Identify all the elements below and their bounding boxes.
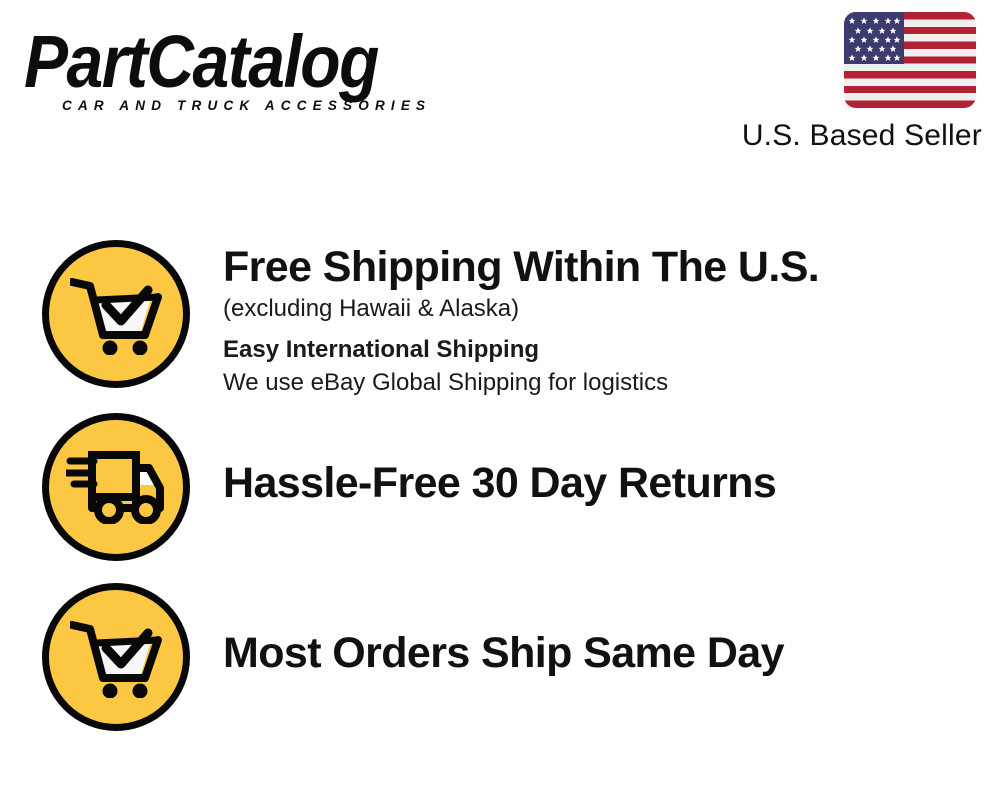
feature-text: Most Orders Ship Same Day xyxy=(223,583,1000,678)
shopping-cart-check-icon xyxy=(42,240,190,388)
flag-stars xyxy=(844,12,976,108)
feature-title: Free Shipping Within The U.S. xyxy=(223,242,1000,292)
feature-subnote: (excluding Hawaii & Alaska) xyxy=(223,292,1000,325)
us-based-seller-block: U.S. Based Seller xyxy=(692,12,982,153)
brand-logo: PartCatalog CAR AND TRUCK ACCESSORIES xyxy=(24,22,494,113)
us-based-seller-label: U.S. Based Seller xyxy=(692,119,982,153)
feature-title: Hassle-Free 30 Day Returns xyxy=(223,458,1000,508)
feature-text: Free Shipping Within The U.S. (excluding… xyxy=(223,240,1000,399)
feature-subheading: Easy International Shipping xyxy=(223,333,1000,366)
brand-wordmark: PartCatalog xyxy=(24,22,494,100)
shopping-cart-check-icon xyxy=(42,583,190,731)
shipping-info-banner: { "brand": { "wordmark": "PartCatalog", … xyxy=(0,0,1000,800)
feature-row: Most Orders Ship Same Day xyxy=(0,583,1000,731)
feature-subdetail: We use eBay Global Shipping for logistic… xyxy=(223,366,1000,399)
feature-row: Hassle-Free 30 Day Returns xyxy=(0,413,1000,561)
us-flag-icon xyxy=(844,12,976,108)
feature-title: Most Orders Ship Same Day xyxy=(223,628,1000,678)
delivery-truck-icon xyxy=(42,413,190,561)
banner-header: PartCatalog CAR AND TRUCK ACCESSORIES xyxy=(0,0,1000,175)
feature-row: Free Shipping Within The U.S. (excluding… xyxy=(0,240,1000,399)
feature-text: Hassle-Free 30 Day Returns xyxy=(223,413,1000,508)
